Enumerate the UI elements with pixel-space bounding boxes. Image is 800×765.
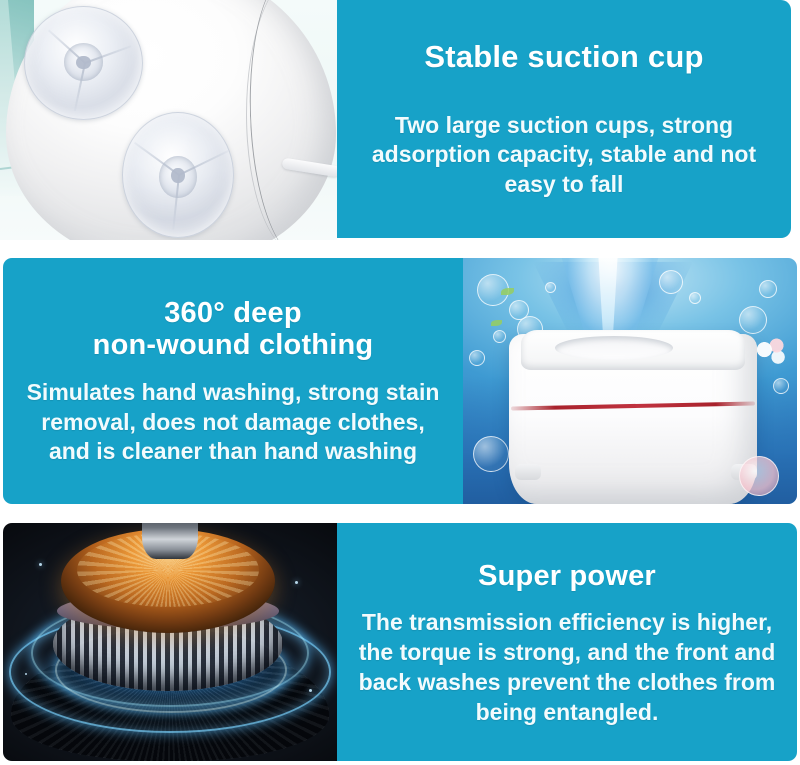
motor-photo	[3, 523, 337, 761]
leaf-icon	[491, 320, 502, 326]
feature-panel-super-power: Super power The transmission efficiency …	[3, 523, 797, 761]
super-power-text-block: Super power The transmission efficiency …	[337, 523, 797, 761]
panel-2-headline-line-2: non-wound clothing	[93, 329, 374, 361]
suction-cup-lower	[122, 112, 234, 238]
spark-icon	[25, 673, 27, 675]
panel-1-body-text: Two large suction cups, strong adsorptio…	[359, 111, 769, 201]
washer-foot	[515, 464, 541, 480]
washer-rim-outline-secondary	[246, 0, 337, 240]
spark-icon	[39, 563, 42, 566]
bubble-icon	[659, 270, 683, 294]
suction-cup-spoke	[73, 63, 85, 112]
panel-3-headline: Super power	[478, 560, 656, 592]
suction-cup-spoke	[47, 29, 85, 63]
bubble-icon	[545, 282, 556, 293]
spark-icon	[309, 689, 312, 692]
suction-cup-spoke	[84, 45, 131, 64]
motor-shaft-hub	[142, 523, 198, 559]
feature-panel-360-deep-clothing: 360° deep non-wound clothing Simulates h…	[3, 258, 797, 504]
bubble-icon	[469, 350, 485, 366]
suction-cup-photo	[0, 0, 337, 240]
suction-cup-spoke	[179, 150, 229, 176]
panel-1-headline: Stable suction cup	[424, 40, 703, 75]
bubble-icon	[739, 306, 767, 334]
panel-2-headline-line-1: 360° deep	[164, 297, 302, 329]
bubble-icon	[759, 280, 777, 298]
feature-panel-suction-cup: Stable suction cup Two large suction cup…	[0, 0, 800, 240]
panel-2-body-text: Simulates hand washing, strong stain rem…	[23, 378, 443, 468]
spark-icon	[295, 581, 298, 584]
suction-cup-text-block: Stable suction cup Two large suction cup…	[337, 0, 791, 238]
flower-icon	[753, 336, 791, 370]
panel-2-headline: 360° deep non-wound clothing	[93, 297, 374, 362]
washer-lid-recess	[555, 336, 673, 360]
water-washer-photo	[463, 258, 797, 504]
360-clothing-text-block: 360° deep non-wound clothing Simulates h…	[3, 258, 463, 504]
panel-3-body-text: The transmission efficiency is higher, t…	[356, 608, 778, 728]
bubble-icon	[773, 378, 789, 394]
petal-bubble-icon	[739, 456, 779, 496]
suction-cup-spoke	[172, 175, 180, 229]
infographic-sheet: Stable suction cup Two large suction cup…	[0, 0, 800, 765]
suction-cup-upper	[24, 6, 143, 120]
bubble-icon	[473, 436, 509, 472]
suction-cup-spoke	[134, 142, 179, 176]
leaf-icon	[501, 288, 514, 295]
bubble-icon	[493, 330, 506, 343]
bubble-icon	[689, 292, 701, 304]
